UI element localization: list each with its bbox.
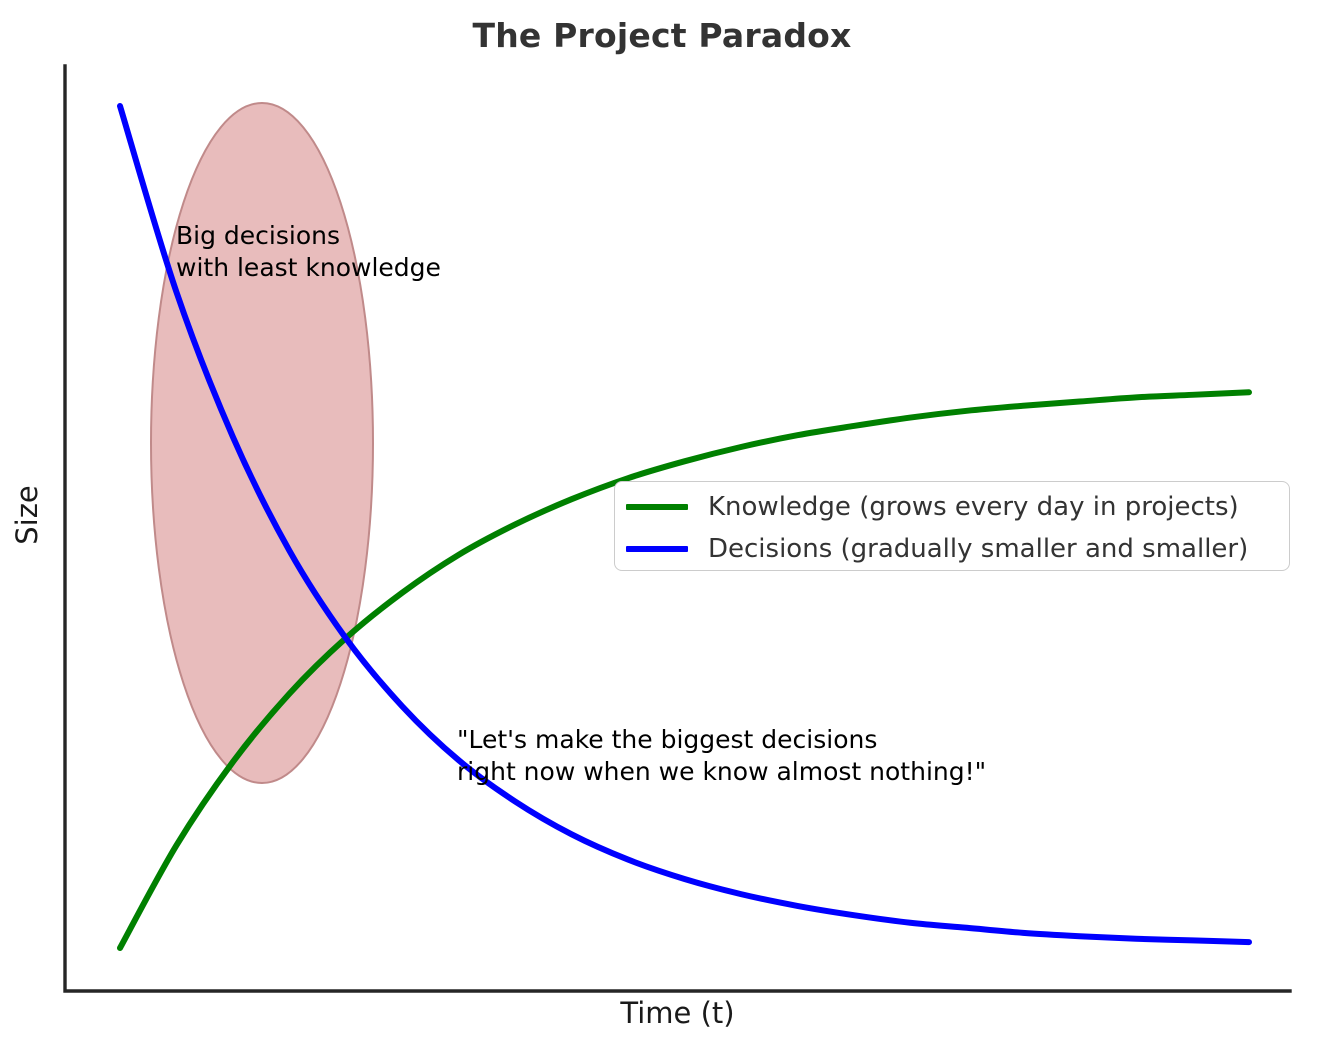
legend-item-knowledge[interactable]: Knowledge (grows every day in projects) xyxy=(626,487,1239,527)
chart-legend[interactable]: Knowledge (grows every day in projects) … xyxy=(614,481,1290,571)
early-phase-highlight-ellipse xyxy=(151,103,373,783)
quote-line-2: right now when we know almost nothing!" xyxy=(457,757,986,786)
annotation-line-1: Big decisions xyxy=(176,221,340,250)
legend-color-swatch-knowledge xyxy=(626,504,688,510)
y-axis-label: Size xyxy=(10,455,44,575)
annotation-big-decisions: Big decisions with least knowledge xyxy=(176,220,441,285)
legend-label-decisions: Decisions (gradually smaller and smaller… xyxy=(708,534,1248,564)
chart-figure: The Project Paradox Time (t) Size Big de… xyxy=(0,0,1324,1054)
x-axis-label: Time (t) xyxy=(65,996,1290,1030)
page-title: The Project Paradox xyxy=(0,16,1324,55)
legend-item-decisions[interactable]: Decisions (gradually smaller and smaller… xyxy=(626,529,1248,569)
annotation-line-2: with least knowledge xyxy=(176,253,441,282)
quote-line-1: "Let's make the biggest decisions xyxy=(457,725,877,754)
legend-label-knowledge: Knowledge (grows every day in projects) xyxy=(708,492,1239,522)
annotation-quote: "Let's make the biggest decisions right … xyxy=(457,724,986,789)
legend-color-swatch-decisions xyxy=(626,546,688,552)
